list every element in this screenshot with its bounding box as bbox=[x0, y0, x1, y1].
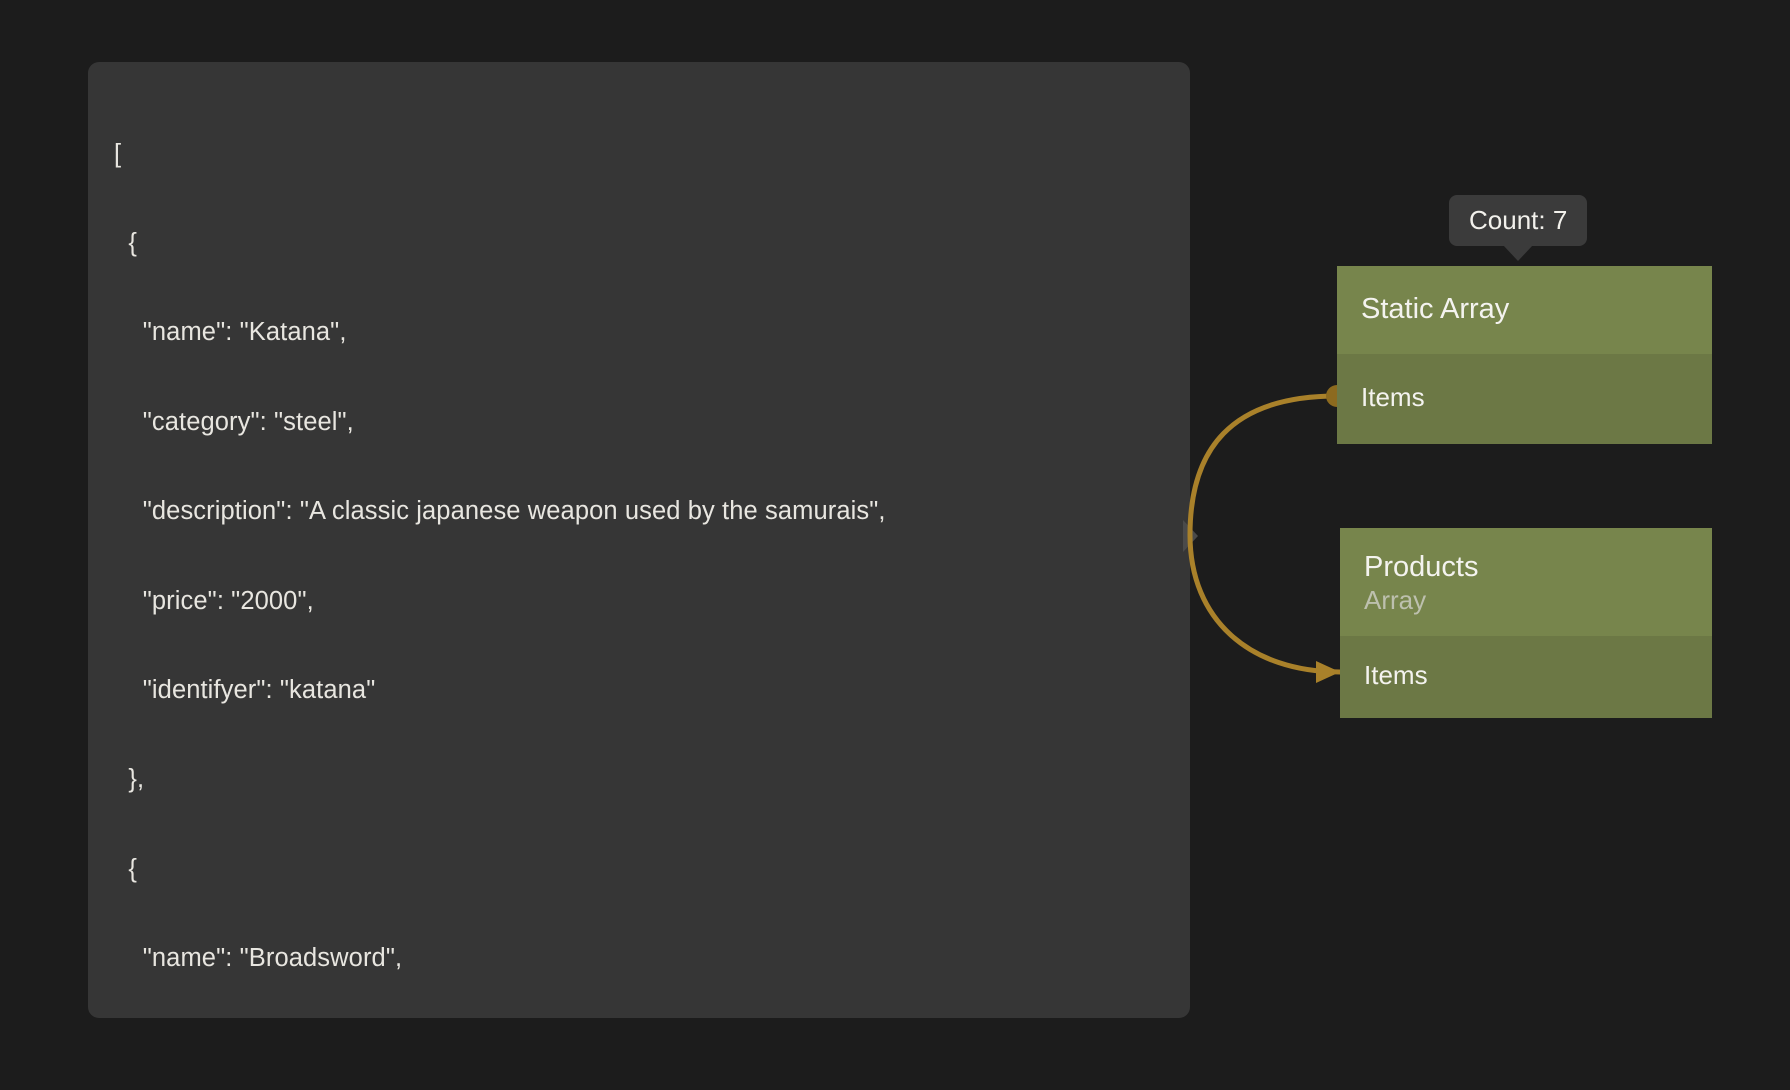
node-static-array-header: Static Array bbox=[1337, 266, 1712, 354]
node-products-subtitle: Array bbox=[1364, 584, 1688, 616]
node-static-array-items-label: Items bbox=[1361, 382, 1425, 412]
code-line: { bbox=[114, 855, 1190, 885]
code-line: [ bbox=[114, 140, 1190, 170]
count-badge-label: Count: 7 bbox=[1469, 205, 1567, 235]
node-products-items-row[interactable]: Items bbox=[1340, 636, 1712, 718]
node-static-array-title: Static Array bbox=[1361, 292, 1688, 326]
node-products[interactable]: Products Array Items bbox=[1340, 528, 1712, 718]
code-line: "description": "A classic japanese weapo… bbox=[114, 497, 1190, 527]
code-line: "price": "2000", bbox=[114, 587, 1190, 617]
node-products-items-label: Items bbox=[1364, 660, 1428, 690]
code-line: "name": "Broadsword", bbox=[114, 944, 1190, 974]
panel-edge-arrow-icon bbox=[1183, 520, 1198, 552]
node-static-array-items-row[interactable]: Items bbox=[1337, 354, 1712, 444]
connector-path bbox=[1190, 396, 1340, 672]
json-code-panel: [ { "name": "Katana", "category": "steel… bbox=[88, 62, 1190, 1018]
code-line: { bbox=[114, 229, 1190, 259]
code-line: "name": "Katana", bbox=[114, 318, 1190, 348]
count-badge-pointer-icon bbox=[1503, 245, 1533, 261]
code-line: }, bbox=[114, 765, 1190, 795]
code-line: "category": "steel", bbox=[114, 408, 1190, 438]
json-code-text: [ { "name": "Katana", "category": "steel… bbox=[88, 80, 1190, 1018]
node-static-array[interactable]: Static Array Items bbox=[1337, 266, 1712, 444]
code-line: "identifyer": "katana" bbox=[114, 676, 1190, 706]
node-products-title: Products bbox=[1364, 550, 1688, 584]
count-badge: Count: 7 bbox=[1449, 195, 1587, 246]
node-products-header: Products Array bbox=[1340, 528, 1712, 636]
connector-arrowhead-icon bbox=[1316, 661, 1340, 683]
